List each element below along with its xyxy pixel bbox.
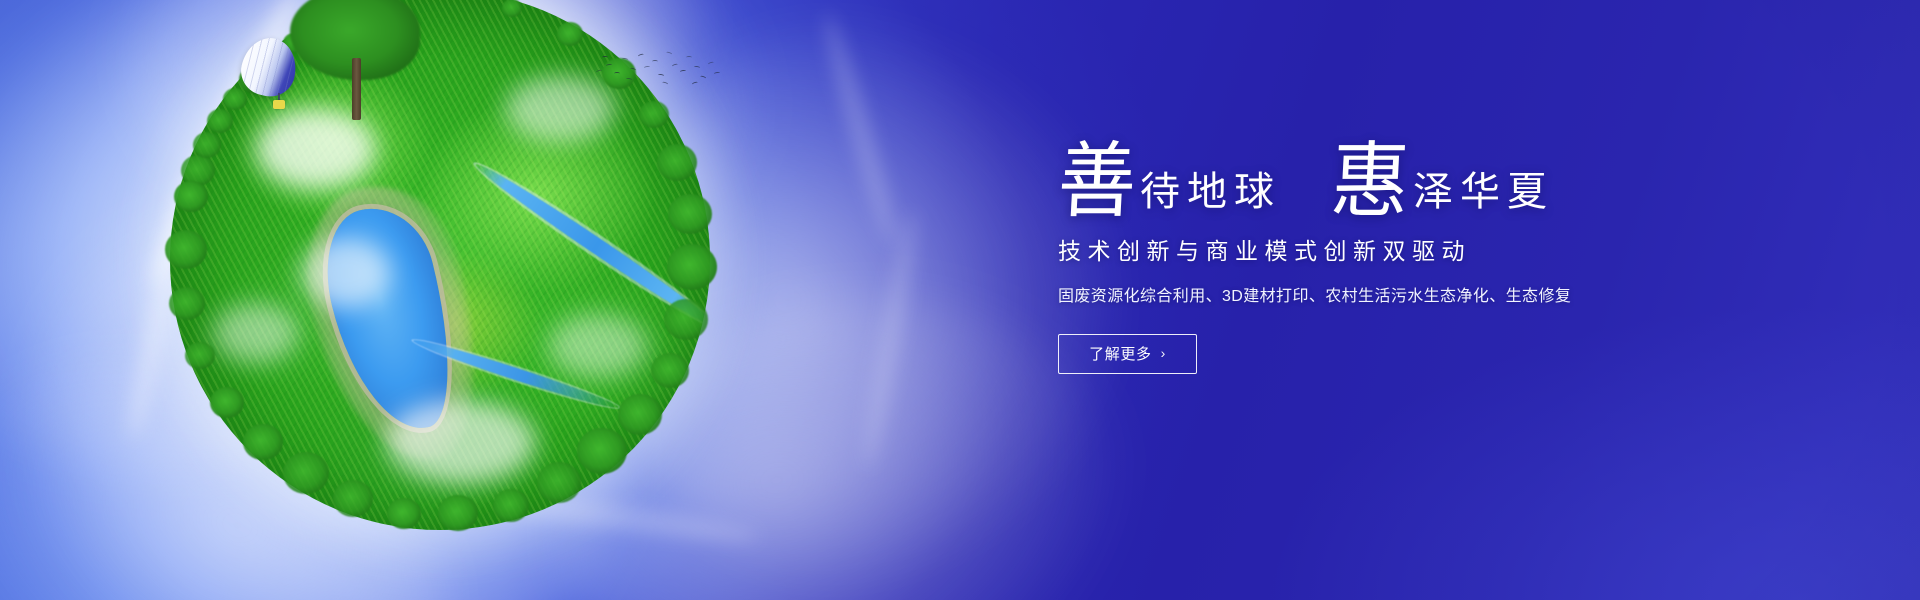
- bird-icon: [714, 72, 720, 76]
- tree-icon: [165, 230, 207, 269]
- mist-patch: [548, 314, 648, 378]
- bird-icon: [680, 70, 686, 74]
- mist-patch: [386, 400, 536, 484]
- bird-icon: [644, 66, 650, 70]
- tree-icon: [664, 299, 708, 339]
- tree-icon: [618, 394, 662, 434]
- tree-icon: [283, 452, 329, 494]
- bird-icon: [638, 53, 645, 58]
- headline-char-hui: 惠: [1329, 143, 1411, 222]
- tree-icon: [577, 428, 627, 474]
- bird-icon: [686, 56, 692, 59]
- tree-icon: [210, 387, 244, 418]
- bird-icon: [630, 67, 637, 72]
- subtitle: 技术创新与商业模式创新双驱动: [1058, 238, 1678, 266]
- description: 固废资源化综合利用、3D建材打印、农村生活污水生态净化、生态修复: [1058, 286, 1678, 308]
- mist-patch: [256, 109, 376, 189]
- bird-icon: [694, 66, 700, 70]
- bird-icon: [672, 63, 679, 68]
- tree-icon: [243, 424, 283, 461]
- bird-icon: [602, 56, 608, 59]
- tree-icon: [493, 489, 529, 522]
- bird-icon: [606, 64, 612, 68]
- bird-icon: [596, 69, 603, 74]
- tree-icon: [502, 0, 522, 17]
- bird-icon: [662, 81, 669, 86]
- tree-icon: [657, 144, 697, 181]
- learn-more-label: 了解更多: [1089, 343, 1151, 364]
- headline-text-zehuaxia: 泽华夏: [1413, 172, 1554, 220]
- balloon-basket: [273, 100, 285, 109]
- bird-icon: [666, 51, 673, 56]
- headline-text-daidiqiu: 待地球: [1140, 172, 1281, 220]
- bird-icon: [700, 75, 707, 80]
- tree-icon: [667, 244, 717, 290]
- tree-icon: [387, 498, 421, 529]
- hot-air-balloon-icon: [242, 38, 296, 114]
- bird-icon: [658, 74, 664, 78]
- bird-icon: [614, 72, 620, 75]
- tree-icon: [207, 109, 233, 133]
- bird-icon: [692, 81, 699, 86]
- tree-icon: [169, 287, 205, 320]
- large-tree-icon: [290, 0, 420, 118]
- chevron-right-icon: ›: [1161, 346, 1166, 360]
- tree-icon: [174, 181, 208, 212]
- tree-icon: [438, 495, 478, 532]
- bird-icon: [652, 60, 658, 63]
- birds-icon: [592, 44, 722, 90]
- bird-icon: [708, 61, 715, 66]
- tree-icon: [333, 480, 373, 517]
- hero-banner: 善 待地球 惠 泽华夏 技术创新与商业模式创新双驱动 固废资源化综合利用、3D建…: [0, 0, 1920, 600]
- tree-icon: [639, 101, 669, 129]
- tree-icon: [557, 22, 583, 46]
- tree-icon: [537, 462, 581, 502]
- page-title: 善 待地球 惠 泽华夏: [1058, 128, 1678, 220]
- headline-char-shan: 善: [1056, 143, 1138, 222]
- tree-icon: [651, 353, 689, 388]
- hero-content: 善 待地球 惠 泽华夏 技术创新与商业模式创新双驱动 固废资源化综合利用、3D建…: [1058, 128, 1678, 374]
- bird-icon: [622, 58, 628, 62]
- bird-icon: [626, 78, 632, 82]
- learn-more-button[interactable]: 了解更多 ›: [1058, 334, 1197, 374]
- mist-patch: [300, 238, 390, 308]
- tree-icon: [668, 194, 712, 234]
- mist-patch: [213, 303, 299, 363]
- balloon-ribs: [237, 33, 302, 101]
- tree-trunk: [352, 58, 361, 120]
